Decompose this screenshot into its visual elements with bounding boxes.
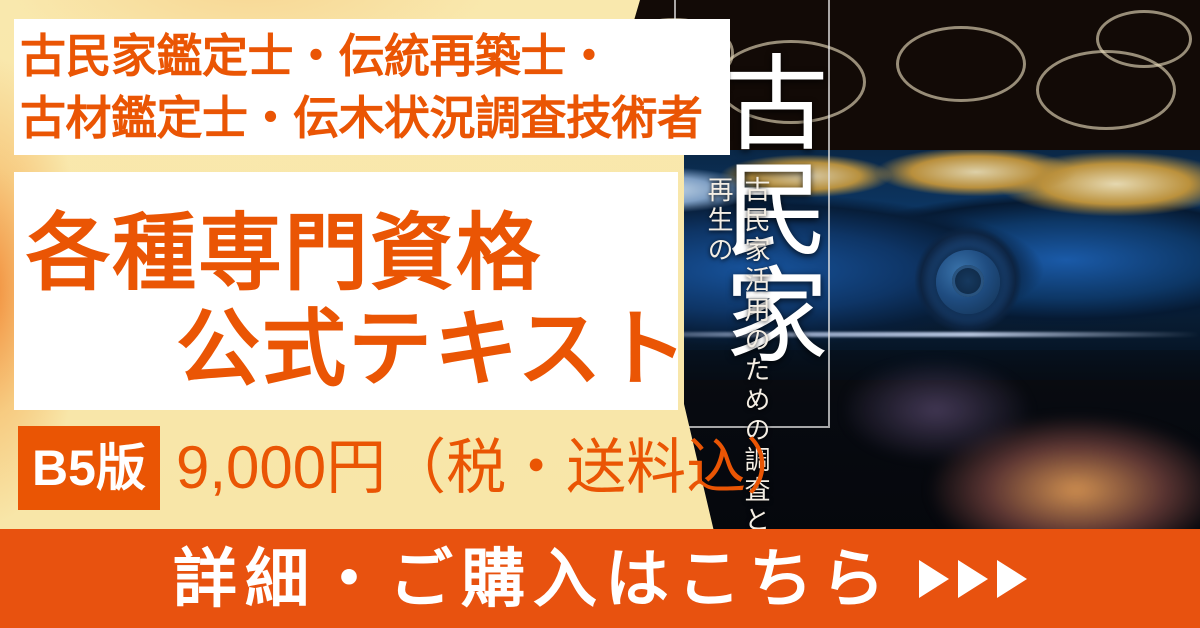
promo-banner: 古民家 伝統構法 古民家活用のための調査と再生の 古民家鑑定士・伝統再築士・ 古… xyxy=(0,0,1200,628)
cta-bar[interactable]: 詳細・ご購入はこちら xyxy=(0,529,1200,628)
certification-line-1: 古民家鑑定士・伝統再築士・ xyxy=(20,26,726,88)
size-badge-label: B5版 xyxy=(32,443,146,493)
headline-line-2: 公式テキスト xyxy=(176,282,689,403)
triangle-right-icon xyxy=(919,560,949,598)
triangle-right-icon xyxy=(958,560,988,598)
size-badge: B5版 xyxy=(18,426,160,510)
cta-label: 詳細・ご購入はこちら xyxy=(173,547,893,611)
cta-arrow-group xyxy=(919,560,1027,598)
certification-line-2: 古材鑑定士・伝木状況調査技術者 xyxy=(20,88,726,150)
family-crest-icon xyxy=(936,250,1000,314)
price-label: 9,000円（税・送料込） xyxy=(176,428,806,507)
wood-swirl-icon xyxy=(896,26,1026,102)
triangle-right-icon xyxy=(997,560,1027,598)
certifications-text: 古民家鑑定士・伝統再築士・ 古材鑑定士・伝木状況調査技術者 xyxy=(20,26,726,149)
warm-light-glow xyxy=(846,340,1200,540)
wood-swirl-icon xyxy=(1096,10,1192,68)
